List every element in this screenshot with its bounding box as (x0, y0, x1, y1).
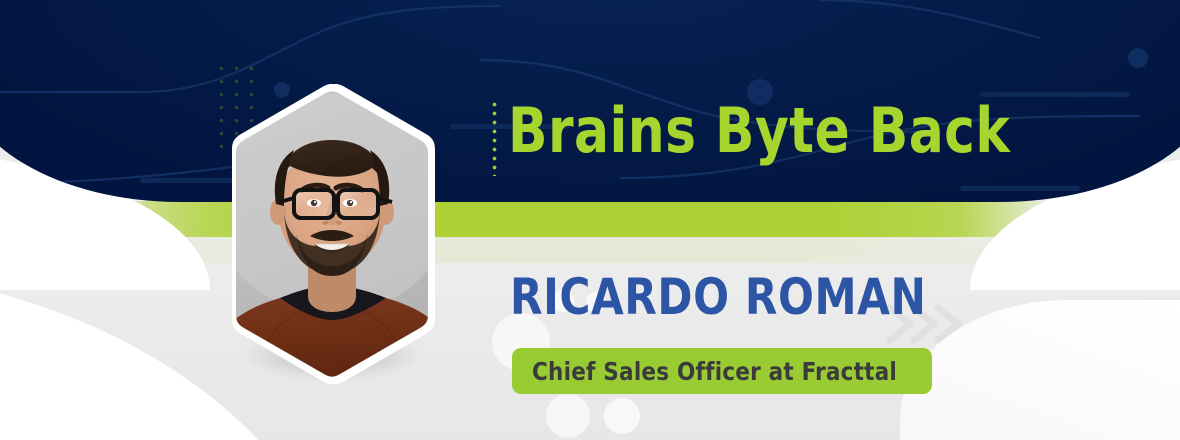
show-title: Brains Byte Back (508, 92, 1010, 170)
guest-name: RICARDO ROMAN (510, 268, 926, 326)
podcast-guest-banner: Brains Byte Back RICARDO ROMAN Chief Sal… (0, 0, 1180, 440)
guest-role-badge: Chief Sales Officer at Fracttal (512, 348, 932, 394)
decorative-circle (604, 398, 640, 434)
title-dot-rule (492, 100, 497, 176)
decorative-circle (546, 394, 590, 438)
guest-role-label: Chief Sales Officer at Fracttal (532, 357, 897, 386)
guest-portrait (214, 84, 450, 384)
portrait-hexagon-frame (214, 84, 450, 384)
